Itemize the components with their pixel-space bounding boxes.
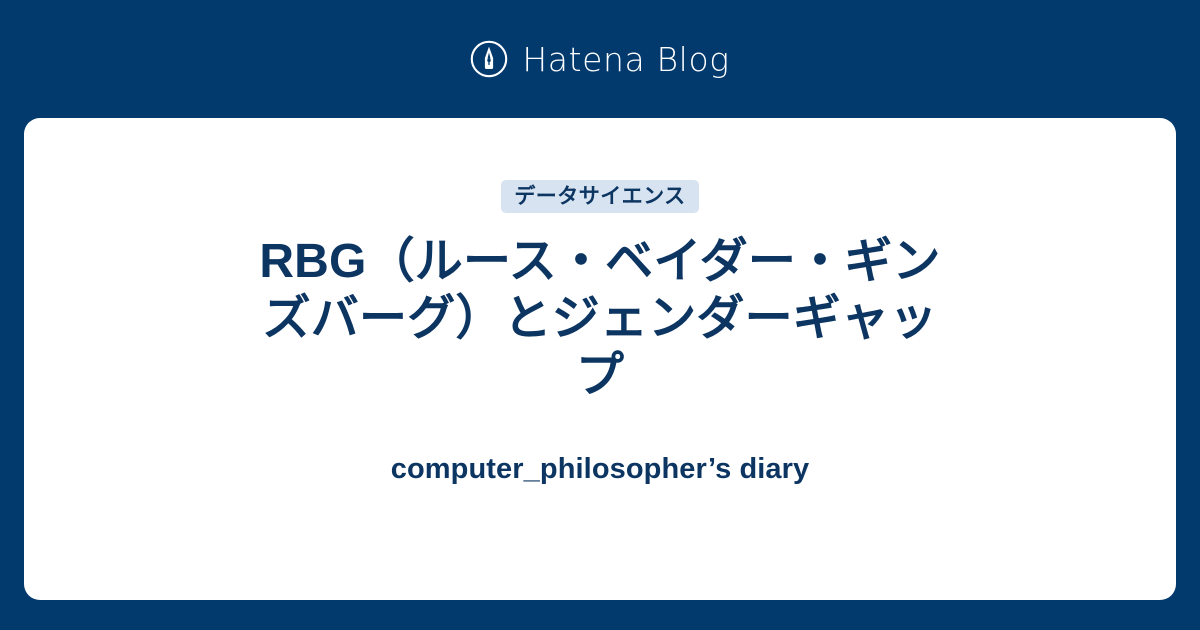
category-row: データサイエンス: [501, 180, 698, 213]
og-image-card: Hatena Blog データサイエンス RBG（ルース・ベイダー・ギンズバーグ…: [0, 0, 1200, 630]
brand-header: Hatena Blog: [0, 0, 1200, 118]
entry-title: RBG（ルース・ベイダー・ギンズバーグ）とジェンダーギャップ: [250, 233, 950, 404]
category-tag[interactable]: データサイエンス: [501, 180, 698, 213]
blog-name: computer_philosopher’s diary: [150, 450, 1050, 488]
brand-name: Hatena Blog: [522, 43, 729, 76]
hatena-pen-nib-icon: [470, 40, 508, 78]
entry-card: データサイエンス RBG（ルース・ベイダー・ギンズバーグ）とジェンダーギャップ …: [24, 118, 1176, 600]
